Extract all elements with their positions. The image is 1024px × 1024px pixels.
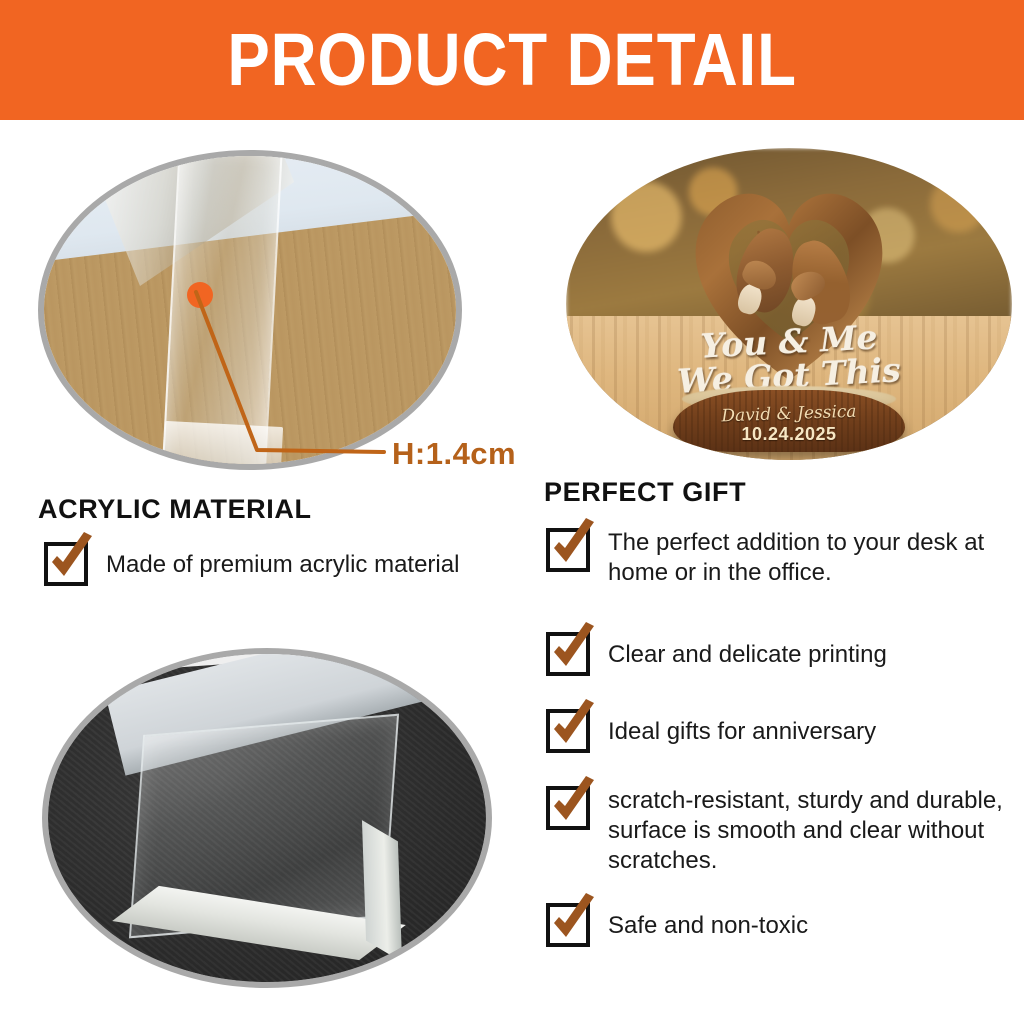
list-item: Safe and non-toxic xyxy=(546,903,808,947)
check-icon xyxy=(44,542,88,586)
scene-product: You & Me We Got This David & Jessica 10.… xyxy=(566,148,1012,460)
list-item: Ideal gifts for anniversary xyxy=(546,709,876,753)
buck-deer-icon xyxy=(739,228,793,312)
check-icon xyxy=(546,786,590,830)
plaque-figure: You & Me We Got This David & Jessica 10.… xyxy=(651,164,927,444)
acrylic-block-right-side xyxy=(362,820,402,962)
list-item: Made of premium acrylic material xyxy=(44,542,459,586)
section-heading-perfect-gift: PERFECT GIFT xyxy=(544,477,746,508)
scene-acrylic-edge xyxy=(44,156,456,464)
scene-acrylic-block xyxy=(48,654,486,982)
page-header-banner: PRODUCT DETAIL xyxy=(0,0,1024,120)
list-item: scratch-resistant, sturdy and durable, s… xyxy=(546,786,1024,877)
list-item-label: Safe and non-toxic xyxy=(608,903,808,941)
photo-acrylic-block xyxy=(42,648,492,988)
height-callout-label: H:1.4cm xyxy=(392,436,516,472)
doe-deer-icon xyxy=(793,240,847,324)
check-icon xyxy=(546,632,590,676)
list-item-label: scratch-resistant, sturdy and durable, s… xyxy=(608,786,1024,877)
plaque-wooden-base: David & Jessica 10.24.2025 xyxy=(673,390,905,452)
acrylic-slab-base xyxy=(163,421,283,470)
list-item-label: The perfect addition to your desk at hom… xyxy=(608,528,1024,588)
photo-acrylic-edge xyxy=(38,150,462,470)
list-item: Clear and delicate printing xyxy=(546,632,887,676)
check-icon xyxy=(546,528,590,572)
section-heading-acrylic-material: ACRYLIC MATERIAL xyxy=(38,494,312,525)
list-item-label: Made of premium acrylic material xyxy=(106,542,459,580)
list-item-label: Ideal gifts for anniversary xyxy=(608,709,876,747)
list-item: The perfect addition to your desk at hom… xyxy=(546,528,1024,588)
check-icon xyxy=(546,903,590,947)
check-icon xyxy=(546,709,590,753)
plaque-date: 10.24.2025 xyxy=(673,424,905,445)
measure-dot-icon xyxy=(187,282,213,308)
page-title: PRODUCT DETAIL xyxy=(227,23,796,97)
photo-product-plaque: You & Me We Got This David & Jessica 10.… xyxy=(566,148,1012,460)
list-item-label: Clear and delicate printing xyxy=(608,632,887,670)
